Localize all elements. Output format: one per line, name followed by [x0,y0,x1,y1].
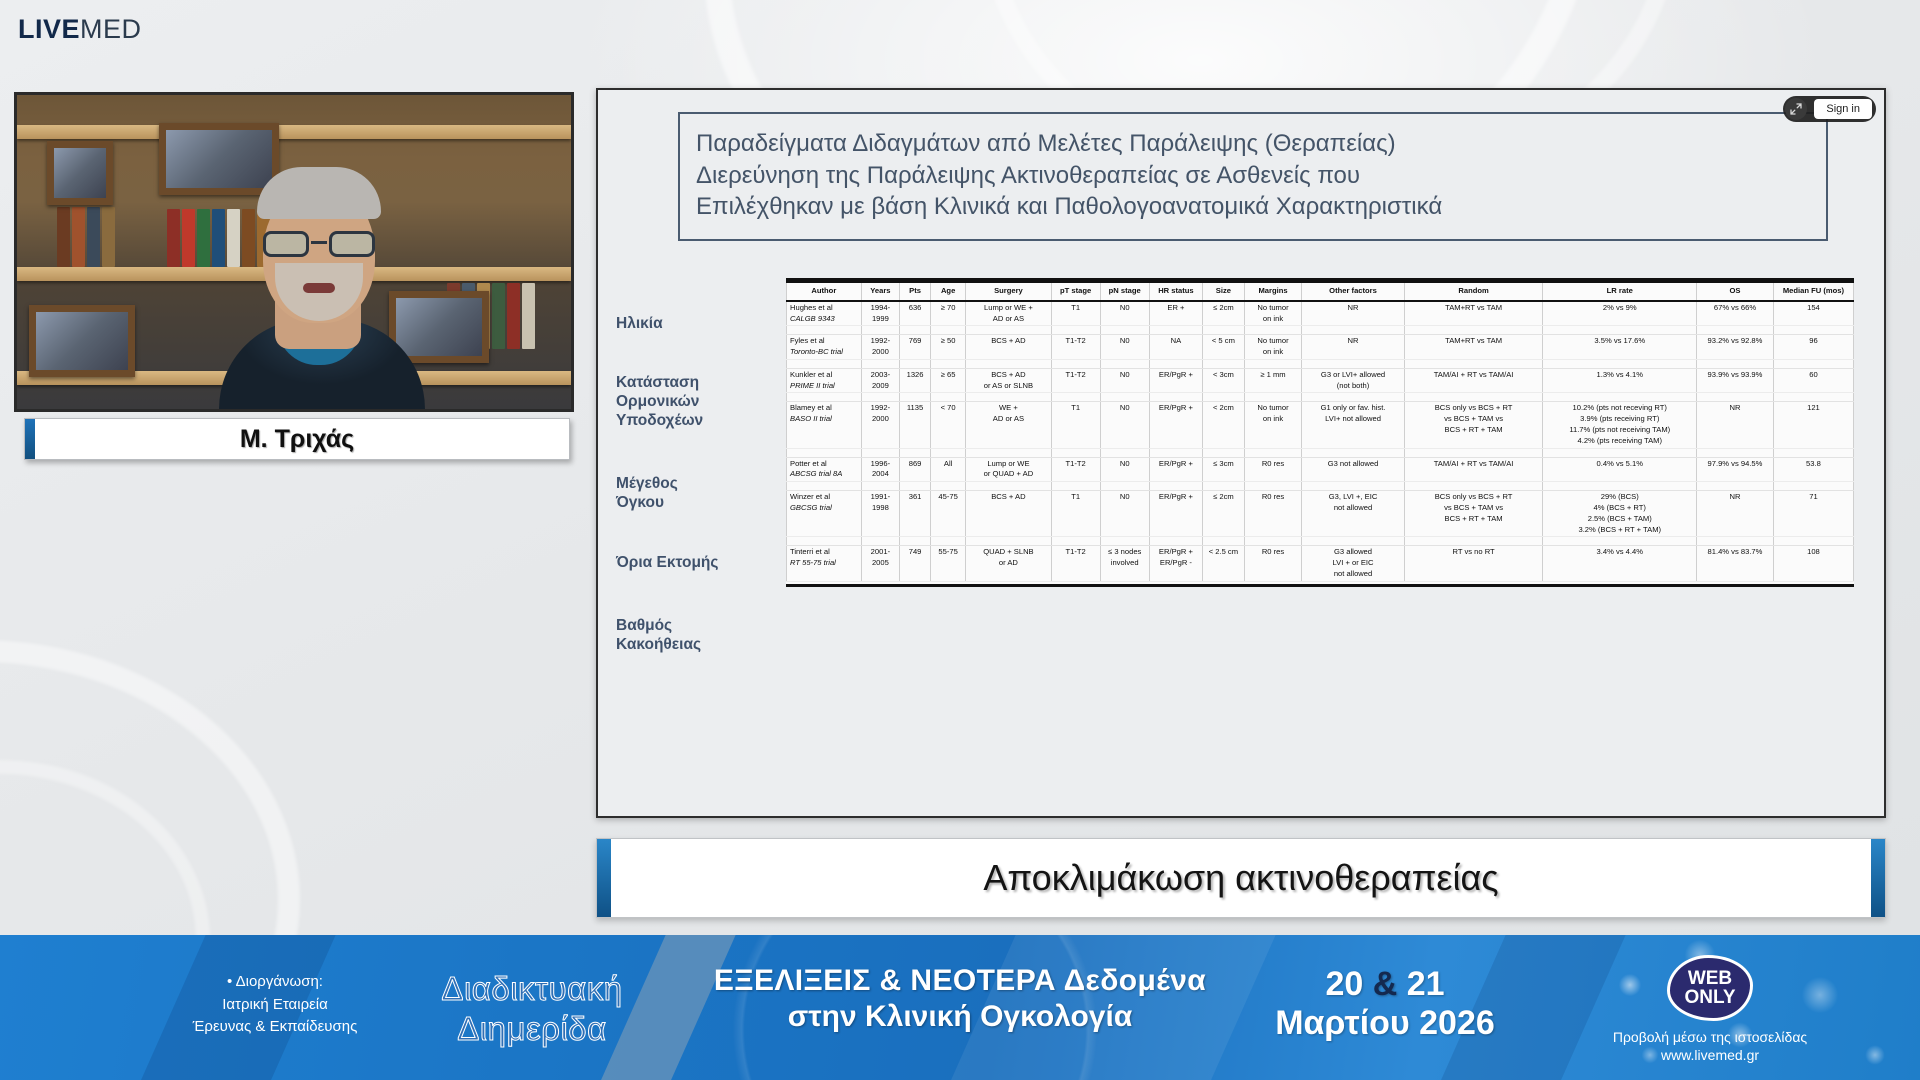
table-cell: ER/PgR +ER/PgR - [1149,546,1202,581]
table-cell-spacer [1100,537,1149,546]
conference-title-block: ΕΞΕΛΙΞΕΙΣ & ΝΕΟΤΕΡΑ Δεδομένα στην Κλινικ… [690,963,1230,1035]
table-cell-spacer [1149,537,1202,546]
table-cell: ≤ 2cm [1203,491,1245,537]
table-cell: NR [1697,491,1774,537]
table-cell: 29% (BCS)4% (BCS + RT)2.5% (BCS + TAM)3.… [1543,491,1697,537]
table-cell-author: Blamey et alBASO II trial [787,402,862,448]
study-table: AuthorYearsPtsAgeSurgerypT stagepN stage… [786,281,1854,582]
table-cell: No tumoron ink [1244,335,1302,360]
table-cell-author: Fyles et alToronto-BC trial [787,335,862,360]
table-cell: 81.4% vs 83.7% [1697,546,1774,581]
slide-caption-bar: Αποκλιμάκωση ακτινοθεραπείας [596,838,1886,918]
slide-category-list: Ηλικία ΚατάστασηΟρμονικώνΥποδοχέων Μέγεθ… [616,315,766,655]
table-cell: BCS only vs BCS + RTvs BCS + TAM vsBCS +… [1404,491,1543,537]
table-cell: 45-75 [931,491,966,537]
table-cell-spacer [1697,482,1774,491]
category-tumor-size: ΜέγεθοςΌγκου [616,475,766,513]
table-header-cell: LR rate [1543,282,1697,301]
table-cell-spacer [1203,448,1245,457]
table-cell: 1992-2000 [861,402,899,448]
table-cell-author: Tinterri et alRT 55-75 trial [787,546,862,581]
table-cell: RT vs no RT [1404,546,1543,581]
table-cell: 121 [1773,402,1853,448]
table-cell: All [931,457,966,482]
table-cell: G3 not allowed [1302,457,1404,482]
table-header-cell: Random [1404,282,1543,301]
table-cell-spacer [900,448,931,457]
table-cell-spacer [1100,326,1149,335]
table-cell: WE +AD or AS [966,402,1051,448]
photo-frame [29,305,135,377]
table-cell: Lump or WE +AD or AS [966,301,1051,326]
table-cell-author: Winzer et alGBCSG trial [787,491,862,537]
table-cell-spacer [1051,448,1100,457]
speaker-mouth [303,283,335,293]
table-cell-spacer [1149,482,1202,491]
table-cell-spacer [1203,326,1245,335]
table-cell-spacer [966,482,1051,491]
table-cell-spacer [1543,537,1697,546]
table-cell-spacer [1203,482,1245,491]
table-cell: T1-T2 [1051,546,1100,581]
table-cell-spacer [931,448,966,457]
table-cell: 53.8 [1773,457,1853,482]
table-cell: ≤ 3cm [1203,457,1245,482]
table-cell: ER/PgR + [1149,368,1202,393]
table-cell-spacer [1404,537,1543,546]
table-cell-spacer [900,537,931,546]
table-cell: ER/PgR + [1149,402,1202,448]
table-cell: 108 [1773,546,1853,581]
table-body: Hughes et alCALGB 93431994-1999636≥ 70Lu… [787,301,1854,581]
organizer-line-1: Ιατρική Εταιρεία [150,994,400,1017]
speaker-glasses [261,231,377,257]
table-cell: BCS + AD [966,335,1051,360]
table-cell: N0 [1100,301,1149,326]
table-cell-spacer [1244,537,1302,546]
table-cell: No tumoron ink [1244,301,1302,326]
table-cell-spacer [1543,448,1697,457]
slide-title-line-2: Διερεύνηση της Παράλειψης Ακτινοθεραπεία… [696,160,1810,192]
table-cell: 97.9% vs 94.5% [1697,457,1774,482]
table-cell-spacer [1100,359,1149,368]
event-type-block: Διαδικτυακή Διημερίδα [412,969,652,1050]
table-cell: NR [1697,402,1774,448]
table-header-cell: Median FU (mos) [1773,282,1853,301]
books-row [57,207,115,267]
table-cell-spacer [931,359,966,368]
table-cell: < 2cm [1203,402,1245,448]
slide-title-box: Παραδείγματα Διδαγμάτων από Μελέτες Παρά… [678,112,1828,241]
table-cell-spacer [787,326,862,335]
table-cell: 93.9% vs 93.9% [1697,368,1774,393]
table-cell-spacer [1244,359,1302,368]
date-day-1: 20 [1325,965,1363,1003]
table-cell: R0 res [1244,491,1302,537]
table-cell: 749 [900,546,931,581]
table-cell: 2001-2005 [861,546,899,581]
table-cell-spacer [1302,326,1404,335]
table-cell-author: Hughes et alCALGB 9343 [787,301,862,326]
table-cell-spacer [1051,482,1100,491]
livemed-logo: LIVEMED [18,16,142,43]
table-row: Blamey et alBASO II trial1992-20001135< … [787,402,1854,448]
table-cell: NR [1302,301,1404,326]
table-header-cell: OS [1697,282,1774,301]
table-cell: < 2.5 cm [1203,546,1245,581]
table-cell-spacer [1051,393,1100,402]
table-cell-spacer [966,359,1051,368]
table-cell: T1 [1051,491,1100,537]
table-header-cell: Size [1203,282,1245,301]
table-header-cell: pN stage [1100,282,1149,301]
table-row-spacer [787,482,1854,491]
table-cell-spacer [1773,482,1853,491]
table-cell: NR [1302,335,1404,360]
table-cell-spacer [1404,326,1543,335]
table-cell: ≤ 2cm [1203,301,1245,326]
study-table-container: AuthorYearsPtsAgeSurgerypT stagepN stage… [786,278,1854,587]
table-cell-spacer [861,448,899,457]
table-cell-spacer [787,359,862,368]
table-cell-spacer [1543,326,1697,335]
table-cell-spacer [1773,326,1853,335]
organizer-line-2: Έρευνας & Εκπαίδευσης [150,1016,400,1039]
table-cell-spacer [1100,482,1149,491]
table-row-spacer [787,359,1854,368]
table-header-cell: Margins [1244,282,1302,301]
speaker-figure [217,159,427,409]
table-cell: G3, LVI +, EICnot allowed [1302,491,1404,537]
table-row-spacer [787,537,1854,546]
table-cell: 1991-1998 [861,491,899,537]
table-cell-spacer [931,393,966,402]
slide-overlay-controls: Sign in [1783,96,1876,122]
table-cell: G3 allowedLVI + or EICnot allowed [1302,546,1404,581]
table-cell-spacer [1051,326,1100,335]
table-row-spacer [787,326,1854,335]
conference-banner: • Διοργάνωση: Ιατρική Εταιρεία Έρευνας &… [0,935,1920,1080]
date-day-2: 21 [1407,965,1445,1003]
speaker-name-plate: Μ. Τριχάς [24,418,570,460]
table-cell-spacer [1302,359,1404,368]
table-cell-spacer [1773,448,1853,457]
table-cell: Lump or WEor QUAD + AD [966,457,1051,482]
table-row: Potter et alABCSG trial 8A1996-2004869Al… [787,457,1854,482]
table-cell-spacer [900,326,931,335]
table-header-row: AuthorYearsPtsAgeSurgerypT stagepN stage… [787,282,1854,301]
table-cell: 154 [1773,301,1853,326]
table-cell: No tumoron ink [1244,402,1302,448]
table-row: Fyles et alToronto-BC trial1992-2000769≥… [787,335,1854,360]
table-row: Tinterri et alRT 55-75 trial2001-2005749… [787,546,1854,581]
table-cell: 3.5% vs 17.6% [1543,335,1697,360]
table-header-cell: Years [861,282,899,301]
conference-title-part-2: ΝΕΟΤΕΡΑ Δεδομένα [910,964,1206,997]
table-cell: 96 [1773,335,1853,360]
screen-root: LIVEMED [0,0,1920,1080]
table-cell-spacer [966,537,1051,546]
table-cell-spacer [861,359,899,368]
table-cell-spacer [900,482,931,491]
table-cell: N0 [1100,402,1149,448]
table-row-spacer [787,448,1854,457]
table-cell-spacer [966,326,1051,335]
table-cell-spacer [1773,393,1853,402]
table-row-spacer [787,393,1854,402]
table-cell: 1994-1999 [861,301,899,326]
table-cell-spacer [1697,393,1774,402]
table-cell: ≥ 65 [931,368,966,393]
table-cell-spacer [861,326,899,335]
website-url: www.livemed.gr [1540,1047,1880,1063]
table-cell: N0 [1100,491,1149,537]
table-cell: ≤ 3 nodesinvolved [1100,546,1149,581]
organizer-block: • Διοργάνωση: Ιατρική Εταιρεία Έρευνας &… [150,971,400,1039]
slide-title-line-1: Παραδείγματα Διδαγμάτων από Μελέτες Παρά… [696,128,1810,160]
table-cell-spacer [1404,359,1543,368]
table-cell-spacer [1773,537,1853,546]
speaker-name-text: Μ. Τριχάς [240,425,354,454]
table-cell-spacer [1302,448,1404,457]
table-cell-spacer [1543,393,1697,402]
web-only-text-1: WEB [1688,969,1732,988]
table-cell-spacer [1697,448,1774,457]
slide-title-line-3: Επιλέχθηκαν με βάση Κλινικά και Παθολογο… [696,191,1810,223]
table-cell: TAM+RT vs TAM [1404,335,1543,360]
table-cell: 769 [900,335,931,360]
date-ampersand: & [1373,965,1398,1003]
table-cell: T1 [1051,301,1100,326]
table-cell: QUAD + SLNBor AD [966,546,1051,581]
table-cell: 1135 [900,402,931,448]
table-cell-author: Kunkler et alPRIME II trial [787,368,862,393]
web-only-badge: WEB ONLY [1667,955,1753,1021]
conference-title-line-2: στην Κλινική Ογκολογία [690,999,1230,1035]
table-cell: TAM+RT vs TAM [1404,301,1543,326]
table-cell: 0.4% vs 5.1% [1543,457,1697,482]
category-age: Ηλικία [616,315,766,334]
date-month-year: Μαρτίου 2026 [1260,1004,1510,1043]
table-cell-spacer [1203,359,1245,368]
table-cell-spacer [1149,326,1202,335]
table-cell: 2003-2009 [861,368,899,393]
table-row: Winzer et alGBCSG trial1991-199836145-75… [787,491,1854,537]
table-cell: < 70 [931,402,966,448]
table-cell: BCS only vs BCS + RTvs BCS + TAM vsBCS +… [1404,402,1543,448]
table-header-cell: Age [931,282,966,301]
web-only-text-2: ONLY [1684,988,1735,1007]
table-cell: 1992-2000 [861,335,899,360]
table-cell: T1-T2 [1051,368,1100,393]
table-cell-spacer [931,537,966,546]
table-cell: ER/PgR + [1149,491,1202,537]
table-cell: ER/PgR + [1149,457,1202,482]
table-cell: T1-T2 [1051,457,1100,482]
table-cell: BCS + ADor AS or SLNB [966,368,1051,393]
table-cell-spacer [900,393,931,402]
table-cell: T1 [1051,402,1100,448]
table-cell-spacer [1051,359,1100,368]
category-hormone-receptor: ΚατάστασηΟρμονικώνΥποδοχέων [616,374,766,431]
table-cell-spacer [966,393,1051,402]
table-cell-spacer [787,537,862,546]
table-cell: 636 [900,301,931,326]
table-cell-spacer [1543,359,1697,368]
table-cell: N0 [1100,368,1149,393]
table-cell-spacer [787,448,862,457]
conference-title-ampersand: & [880,964,902,997]
table-cell-spacer [931,326,966,335]
table-cell: T1-T2 [1051,335,1100,360]
table-cell-spacer [1051,537,1100,546]
table-cell: 10.2% (pts not receving RT)3.9% (pts rec… [1543,402,1697,448]
expand-icon[interactable] [1785,98,1807,120]
table-cell: BCS + AD [966,491,1051,537]
table-cell-spacer [787,482,862,491]
table-cell-spacer [1100,393,1149,402]
bookshelf-plank [17,125,571,139]
table-header-cell: pT stage [1051,282,1100,301]
table-cell: 1.3% vs 4.1% [1543,368,1697,393]
table-cell: 869 [900,457,931,482]
table-cell-spacer [1302,482,1404,491]
category-grade: ΒαθμόςΚακοήθειας [616,617,766,655]
table-cell: TAM/AI + RT vs TAM/AI [1404,368,1543,393]
table-cell-spacer [1302,537,1404,546]
table-cell-spacer [1404,448,1543,457]
organizer-bullet: • Διοργάνωση: [150,971,400,994]
speaker-hair [257,167,381,219]
table-cell: N0 [1100,335,1149,360]
event-type-line-1: Διαδικτυακή [412,969,652,1009]
table-cell-spacer [1697,326,1774,335]
logo-med-text: MED [80,14,142,44]
table-cell: 361 [900,491,931,537]
table-cell: 67% vs 66% [1697,301,1774,326]
table-cell-spacer [1302,393,1404,402]
table-cell-spacer [900,359,931,368]
table-cell-spacer [861,482,899,491]
table-cell-spacer [931,482,966,491]
table-cell: 3.4% vs 4.4% [1543,546,1697,581]
table-cell-spacer [1149,393,1202,402]
table-cell-spacer [1697,359,1774,368]
table-cell-spacer [1244,448,1302,457]
web-subtitle: Προβολή μέσω της ιστοσελίδας [1540,1027,1880,1047]
photo-frame [47,141,113,205]
table-cell: NA [1149,335,1202,360]
table-cell-spacer [966,448,1051,457]
sign-in-button[interactable]: Sign in [1814,99,1872,119]
logo-live-text: LIVE [18,14,80,44]
table-cell-spacer [1773,359,1853,368]
table-cell: ≥ 1 mm [1244,368,1302,393]
table-cell-spacer [1149,359,1202,368]
table-cell: ER + [1149,301,1202,326]
table-cell-spacer [1203,537,1245,546]
table-header-cell: Surgery [966,282,1051,301]
table-cell-spacer [1244,393,1302,402]
table-header-cell: HR status [1149,282,1202,301]
table-header-cell: Pts [900,282,931,301]
table-cell: < 3cm [1203,368,1245,393]
presentation-slide[interactable]: Sign in Παραδείγματα Διδαγμάτων από Μελέ… [596,88,1886,818]
table-cell: ≥ 50 [931,335,966,360]
table-cell-spacer [1149,448,1202,457]
web-only-block: WEB ONLY Προβολή μέσω της ιστοσελίδας ww… [1540,955,1880,1063]
table-cell: G1 only or fav. hist.LVI+ not allowed [1302,402,1404,448]
table-cell: TAM/AI + RT vs TAM/AI [1404,457,1543,482]
table-cell-spacer [1244,482,1302,491]
table-cell-spacer [1244,326,1302,335]
table-header-cell: Other factors [1302,282,1404,301]
table-row: Kunkler et alPRIME II trial2003-20091326… [787,368,1854,393]
table-cell-spacer [787,393,862,402]
table-cell: < 5 cm [1203,335,1245,360]
table-cell: ≥ 70 [931,301,966,326]
table-cell-spacer [861,537,899,546]
caption-text: Αποκλιμάκωση ακτινοθεραπείας [983,857,1498,899]
table-cell: G3 or LVI+ allowed(not both) [1302,368,1404,393]
table-cell: 60 [1773,368,1853,393]
table-cell: R0 res [1244,546,1302,581]
table-cell: 1996-2004 [861,457,899,482]
table-cell: R0 res [1244,457,1302,482]
table-cell: N0 [1100,457,1149,482]
table-cell: 55-75 [931,546,966,581]
table-cell-author: Potter et alABCSG trial 8A [787,457,862,482]
table-header-cell: Author [787,282,862,301]
conference-date-block: 20 & 21 Μαρτίου 2026 [1260,965,1510,1043]
speaker-video[interactable] [14,92,574,412]
conference-title-part-1: ΕΞΕΛΙΞΕΙΣ [714,964,871,997]
table-cell-spacer [1543,482,1697,491]
table-cell: 71 [1773,491,1853,537]
table-cell-spacer [1404,482,1543,491]
category-margins: Όρια Εκτομής [616,554,766,573]
table-cell: 93.2% vs 92.8% [1697,335,1774,360]
table-cell-spacer [861,393,899,402]
table-cell-spacer [1100,448,1149,457]
table-cell: 1326 [900,368,931,393]
event-type-line-2: Διημερίδα [412,1009,652,1049]
table-row: Hughes et alCALGB 93431994-1999636≥ 70Lu… [787,301,1854,326]
table-cell-spacer [1203,393,1245,402]
table-cell: 2% vs 9% [1543,301,1697,326]
table-cell-spacer [1697,537,1774,546]
table-cell-spacer [1404,393,1543,402]
